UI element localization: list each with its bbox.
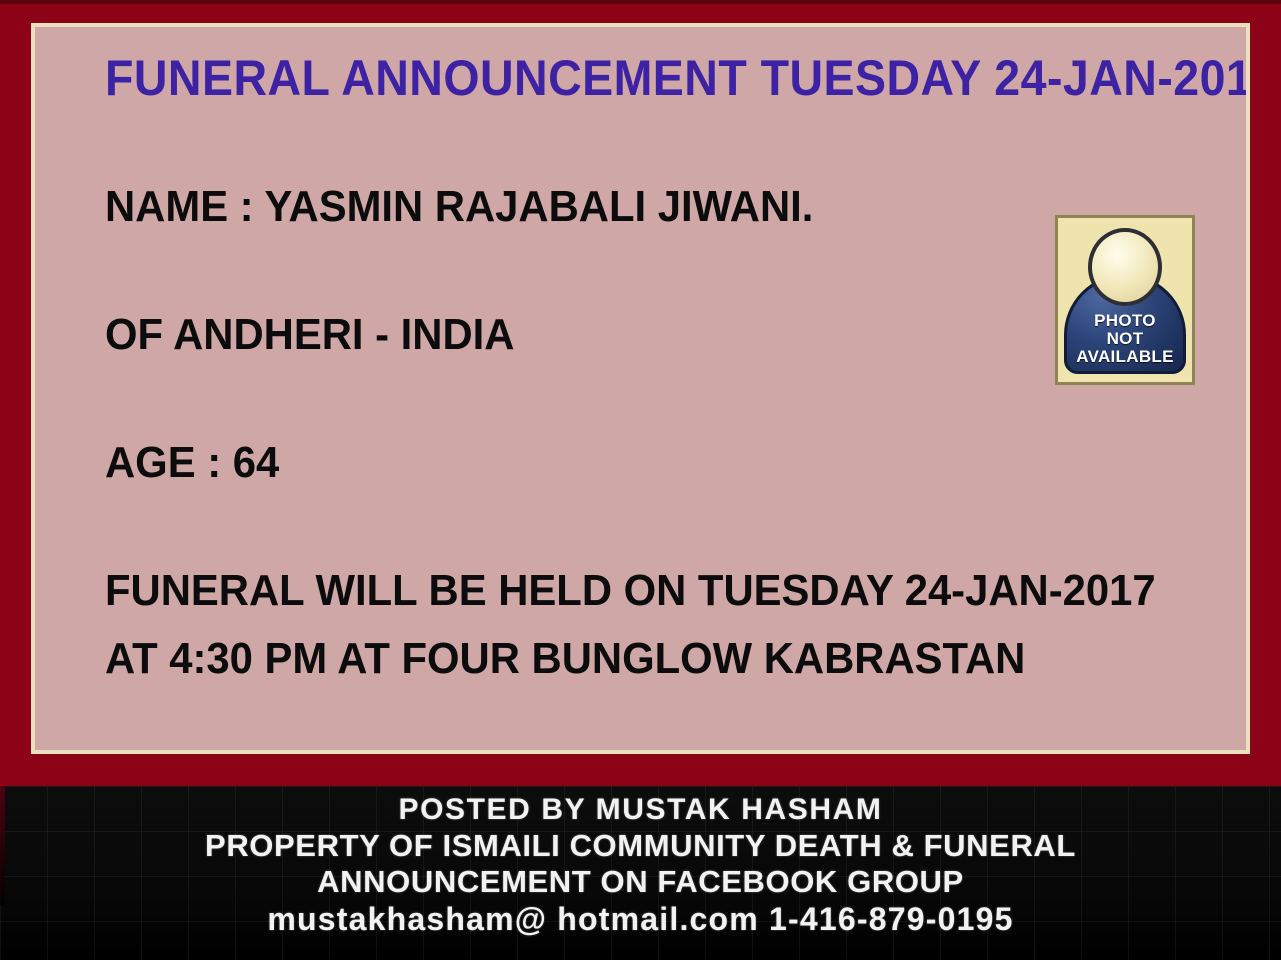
photo-caption-line-3: AVAILABLE — [1058, 348, 1192, 366]
announcement-body: NAME : YASMIN RAJABALI JIWANI. OF ANDHER… — [105, 182, 1105, 684]
photo-caption-line-2: NOT — [1058, 330, 1192, 348]
announcement-panel: FUNERAL ANNOUNCEMENT TUESDAY 24-JAN-2017… — [35, 27, 1246, 750]
deceased-name-line: NAME : YASMIN RAJABALI JIWANI. — [105, 182, 1055, 232]
footer-posted-by: POSTED BY MUSTAK HASHAM — [0, 792, 1281, 828]
footer-contact-line: mustakhasham@ hotmail.com 1-416-879-0195 — [0, 900, 1281, 938]
footer-credit-bar: POSTED BY MUSTAK HASHAM PROPERTY OF ISMA… — [0, 786, 1281, 960]
footer-text-block: POSTED BY MUSTAK HASHAM PROPERTY OF ISMA… — [0, 792, 1281, 938]
footer-group-line: ANNOUNCEMENT ON FACEBOOK GROUP — [0, 864, 1281, 900]
photo-caption-line-1: PHOTO — [1058, 312, 1192, 330]
photo-placeholder-caption: PHOTO NOT AVAILABLE — [1058, 312, 1192, 366]
poster-red-frame: FUNERAL ANNOUNCEMENT TUESDAY 24-JAN-2017… — [0, 0, 1281, 786]
avatar-head-shape — [1088, 228, 1162, 306]
photo-placeholder: PHOTO NOT AVAILABLE — [1055, 215, 1195, 385]
announcement-screenshot: FUNERAL ANNOUNCEMENT TUESDAY 24-JAN-2017… — [0, 0, 1281, 960]
deceased-age-line: AGE : 64 — [105, 438, 1055, 488]
footer-property-line: PROPERTY OF ISMAILI COMMUNITY DEATH & FU… — [0, 828, 1281, 864]
funeral-time-venue-line: AT 4:30 PM AT FOUR BUNGLOW KABRASTAN — [105, 634, 1055, 684]
deceased-location-line: OF ANDHERI - INDIA — [105, 310, 1055, 360]
page-title: FUNERAL ANNOUNCEMENT TUESDAY 24-JAN-2017 — [105, 49, 1246, 107]
funeral-date-line: FUNERAL WILL BE HELD ON TUESDAY 24-JAN-2… — [105, 566, 1055, 616]
